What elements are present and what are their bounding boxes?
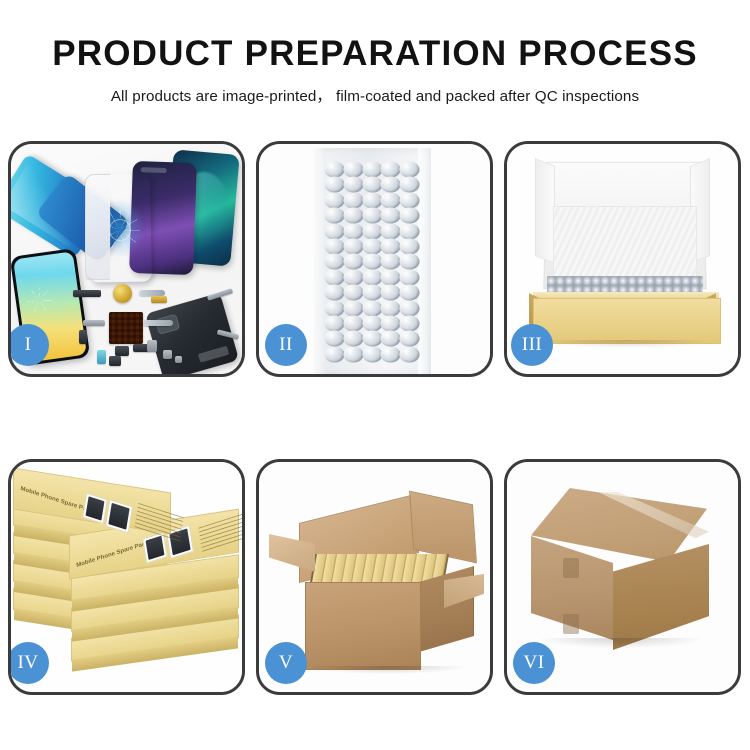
bubble	[381, 315, 401, 331]
carton-back-flap-right	[409, 491, 477, 564]
bubble	[343, 331, 363, 347]
step-badge: IV	[8, 642, 49, 684]
box-lid-left-flap	[535, 158, 555, 264]
bubble-wrap-sleeve	[313, 148, 431, 374]
bubble	[362, 238, 382, 254]
bubble	[400, 300, 420, 316]
step-badge: II	[265, 324, 307, 366]
part-battery-clip	[147, 340, 157, 352]
bubble	[381, 346, 401, 362]
bubble	[324, 177, 344, 193]
bubble	[362, 208, 382, 224]
carton-right-face	[613, 544, 709, 650]
bubble	[343, 223, 363, 239]
panel-step-2: II	[256, 141, 493, 377]
bubble	[324, 162, 344, 178]
page-subtitle: All products are image-printed， film-coa…	[0, 84, 750, 106]
bubble	[362, 300, 382, 316]
phone-screen-fill	[86, 496, 105, 520]
bubble-field	[325, 162, 419, 362]
carton-front-wall	[305, 582, 421, 670]
part-connector-strip	[73, 290, 101, 297]
bubble	[381, 269, 401, 285]
panel-step-1: I	[8, 141, 245, 377]
bubble	[343, 300, 363, 316]
header: PRODUCT PREPARATION PROCESS All products…	[0, 0, 750, 106]
bubble	[381, 285, 401, 301]
bubble	[324, 315, 344, 331]
part-gold-bracket	[151, 296, 167, 303]
product-preparation-infographic: PRODUCT PREPARATION PROCESS All products…	[0, 0, 750, 750]
bubble	[324, 254, 344, 270]
bubble	[400, 315, 420, 331]
bubble	[343, 315, 363, 331]
bubble	[343, 162, 363, 178]
bubble	[343, 285, 363, 301]
foam-insert	[553, 206, 697, 282]
bubble	[400, 346, 420, 362]
phone-screen-fill	[108, 503, 129, 530]
bubble	[324, 269, 344, 285]
drop-shadow	[541, 340, 711, 348]
bubble	[362, 254, 382, 270]
drop-shadow	[541, 638, 701, 648]
carton-notch-lower	[563, 614, 579, 634]
sleeve-right-seal	[418, 148, 431, 374]
box-front-wall	[533, 298, 721, 344]
bubble	[381, 223, 401, 239]
step-badge: V	[265, 642, 307, 684]
bubble	[400, 285, 420, 301]
bubble	[400, 331, 420, 347]
drop-shadow	[307, 666, 467, 674]
panel-step-5: V	[256, 459, 493, 695]
part-screw-set-1	[163, 350, 172, 359]
bubble	[400, 269, 420, 285]
chip-grid-part-icon	[109, 312, 143, 344]
bubble	[400, 254, 420, 270]
part-small-chip-1	[79, 330, 87, 344]
bubble	[362, 285, 382, 301]
bubble	[400, 177, 420, 193]
bubble	[362, 177, 382, 193]
bubble	[343, 269, 363, 285]
bubble	[324, 208, 344, 224]
bubble	[381, 192, 401, 208]
step-badge: I	[8, 324, 49, 366]
bubble	[381, 254, 401, 270]
panel-step-4: Mobile Phone Spare Parts Mobile Phone Sp…	[8, 459, 245, 695]
bubble	[362, 192, 382, 208]
bubble	[324, 346, 344, 362]
box-spec-lines	[198, 513, 242, 552]
bubble	[362, 315, 382, 331]
bubble	[381, 238, 401, 254]
bubble	[381, 208, 401, 224]
bubble	[381, 162, 401, 178]
box-label-text: Mobile Phone Spare Parts	[76, 540, 150, 569]
part-speaker-module	[109, 356, 121, 366]
carton-notch-upper	[563, 558, 579, 578]
bubble	[400, 238, 420, 254]
bubble	[343, 192, 363, 208]
step-badge: VI	[513, 642, 555, 684]
bubble	[400, 208, 420, 224]
bubble	[324, 223, 344, 239]
step-badge: III	[511, 324, 553, 366]
bubble	[324, 238, 344, 254]
process-panel-grid: I II	[8, 141, 742, 695]
bubble	[324, 285, 344, 301]
box-side-face	[72, 636, 238, 671]
bubble	[324, 192, 344, 208]
panel-step-6: VI	[504, 459, 741, 695]
bubble	[343, 208, 363, 224]
bubble	[400, 162, 420, 178]
bubble	[400, 192, 420, 208]
part-flex-cable-2	[143, 320, 173, 326]
bubble	[400, 223, 420, 239]
part-camera-module	[97, 350, 106, 364]
bubble	[343, 254, 363, 270]
bubble	[362, 162, 382, 178]
bubble	[362, 223, 382, 239]
bubble	[381, 331, 401, 347]
bubble	[362, 331, 382, 347]
bubble	[381, 300, 401, 316]
panel-step-3: III	[504, 141, 741, 377]
bubble	[381, 177, 401, 193]
bubble	[343, 346, 363, 362]
bubble	[324, 331, 344, 347]
speaker-coil-part-icon	[113, 284, 132, 303]
bubble	[343, 238, 363, 254]
bubble	[362, 269, 382, 285]
phone-screen-fill	[146, 536, 165, 560]
part-metal-bracket-1	[83, 320, 105, 326]
bubble	[362, 346, 382, 362]
bubble	[324, 300, 344, 316]
part-screw-set-2	[175, 356, 182, 363]
page-title: PRODUCT PREPARATION PROCESS	[0, 36, 750, 71]
bubble	[343, 177, 363, 193]
box-phone-graphic-1	[82, 493, 108, 525]
part-small-chip-2	[115, 346, 129, 356]
